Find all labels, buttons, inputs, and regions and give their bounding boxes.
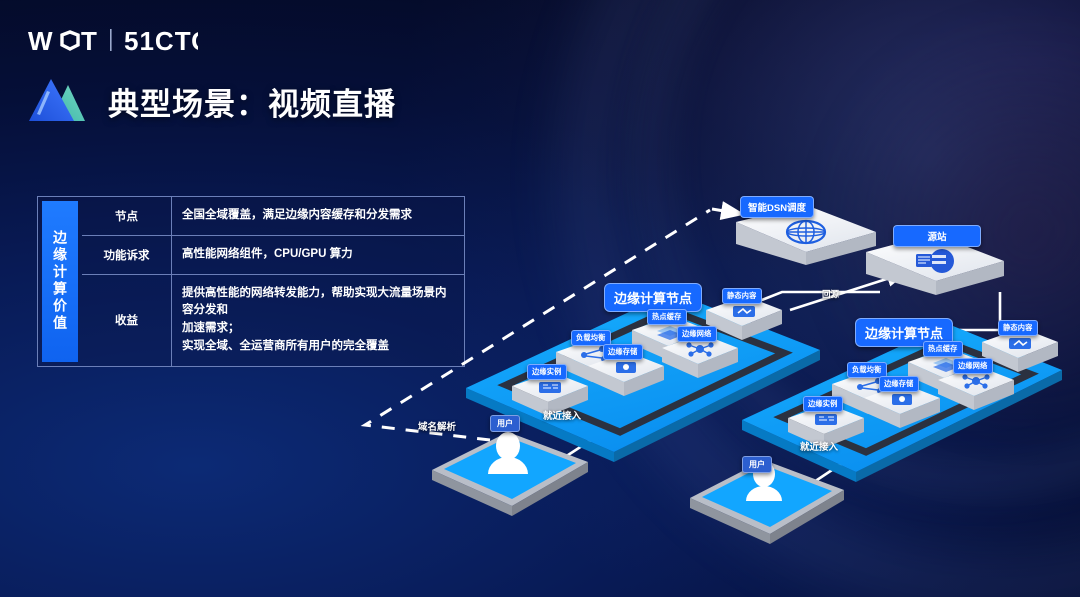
- node-label-edge-left[interactable]: 边缘计算节点: [604, 283, 702, 312]
- architecture-diagram: 智能DSN调度 源站 边缘计算节点 边缘计算节点 负载均衡 热点缓存 静态内容 …: [0, 0, 1080, 597]
- static-content-icon: [733, 306, 755, 317]
- instance-chip-icon: [539, 382, 561, 393]
- diagram-canvas: [0, 0, 1080, 597]
- component-label-edge-storage[interactable]: 边缘存储: [603, 344, 643, 360]
- storage-icon: [892, 394, 912, 405]
- slide-root: W T 51CTO 典型场景：视频直播: [0, 0, 1080, 597]
- component-label-edge-instance[interactable]: 边缘实例: [527, 364, 567, 380]
- component-label-static-content[interactable]: 静态内容: [722, 288, 762, 304]
- connector-label-nearby-access-right: 就近接入: [800, 439, 838, 453]
- component-label-edge-network[interactable]: 边缘网络: [677, 326, 717, 342]
- connector-label-dns-resolution: 域名解析: [418, 419, 456, 433]
- node-label-dsn[interactable]: 智能DSN调度: [740, 196, 814, 218]
- component-label-edge-storage[interactable]: 边缘存储: [879, 376, 919, 392]
- component-label-edge-instance[interactable]: 边缘实例: [803, 396, 843, 412]
- globe-icon: [787, 221, 825, 243]
- component-label-static-content[interactable]: 静态内容: [998, 320, 1038, 336]
- instance-chip-icon: [815, 414, 837, 425]
- node-label-user-left[interactable]: 用户: [490, 415, 520, 432]
- node-user-left[interactable]: [432, 432, 588, 516]
- connector-label-back-to-origin: 回源: [822, 288, 839, 300]
- storage-icon: [616, 362, 636, 373]
- component-label-hot-cache[interactable]: 热点缓存: [923, 341, 963, 357]
- component-label-edge-network[interactable]: 边缘网络: [953, 358, 993, 374]
- static-content-icon: [1009, 338, 1031, 349]
- node-label-origin[interactable]: 源站: [893, 225, 981, 247]
- connector-label-nearby-access-left: 就近接入: [543, 408, 581, 422]
- component-label-hot-cache[interactable]: 热点缓存: [647, 309, 687, 325]
- node-label-user-right[interactable]: 用户: [742, 456, 772, 473]
